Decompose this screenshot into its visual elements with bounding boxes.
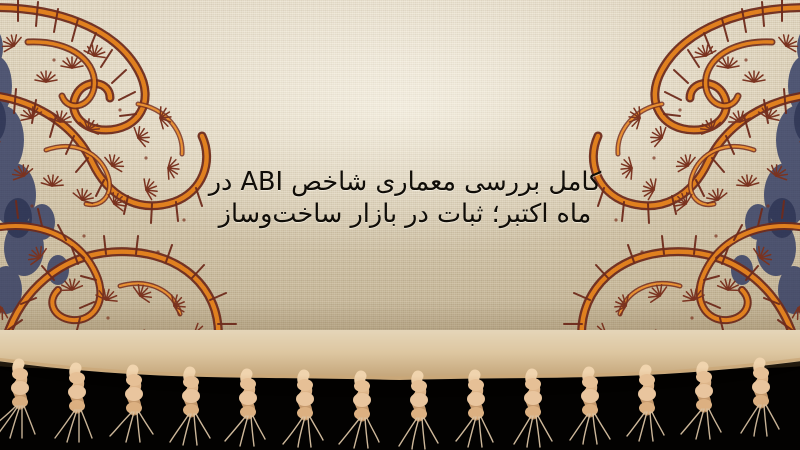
title-line-1: کامل بررسی معماری شاخص ABI در [170,166,640,198]
tassel-fringe [0,330,800,450]
title-line-2: ماه اکتبر؛ ثبات در بازار ساخت‌وساز [170,198,640,230]
banner-image: کامل بررسی معماری شاخص ABI در ماه اکتبر؛… [0,0,800,450]
page-title: کامل بررسی معماری شاخص ABI در ماه اکتبر؛… [170,166,640,230]
